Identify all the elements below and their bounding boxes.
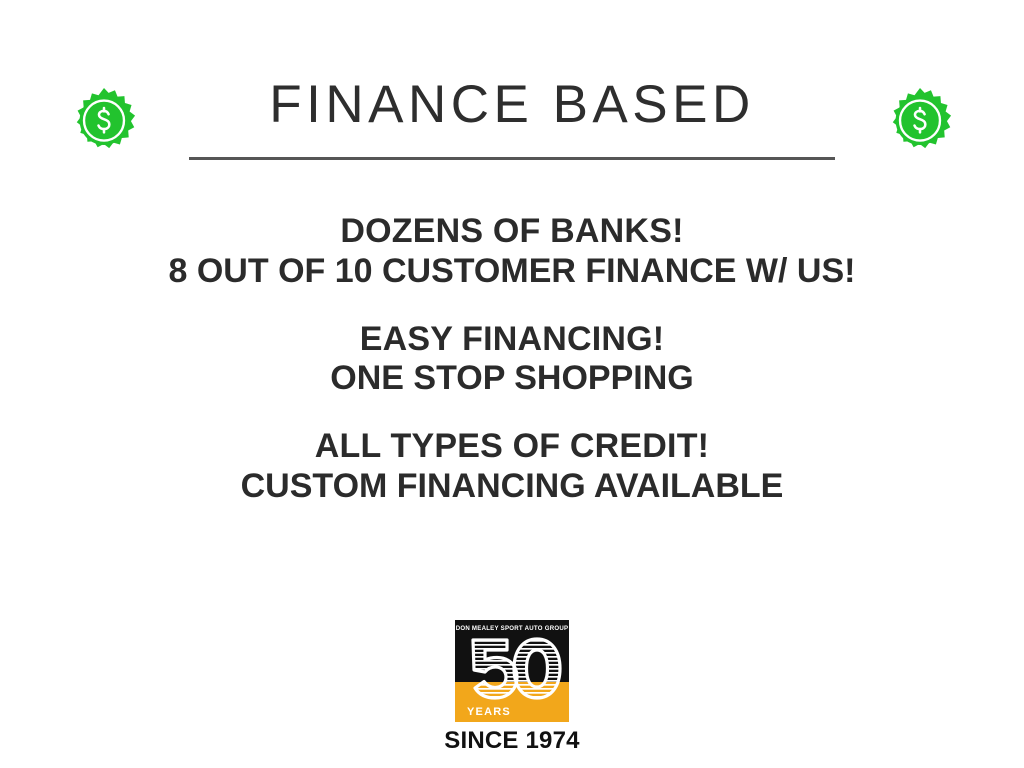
fifty-years-numeral bbox=[455, 632, 569, 710]
dollar-gear-icon bbox=[67, 88, 141, 162]
page-title: FINANCE BASED bbox=[269, 78, 755, 132]
slide-body: DOZENS OF BANKS! 8 OUT OF 10 CUSTOMER FI… bbox=[0, 212, 1024, 507]
copy-headline: EASY FINANCING! bbox=[0, 320, 1024, 360]
copy-block: DOZENS OF BANKS! 8 OUT OF 10 CUSTOMER FI… bbox=[0, 212, 1024, 292]
slide-header: FINANCE BASED bbox=[0, 78, 1024, 178]
copy-headline: DOZENS OF BANKS! bbox=[0, 212, 1024, 252]
slide-canvas: FINANCE BASED DOZENS OF BANKS! 8 OUT OF … bbox=[0, 0, 1024, 768]
dollar-gear-icon bbox=[883, 88, 957, 162]
years-label: YEARS bbox=[467, 706, 511, 718]
copy-block: EASY FINANCING! ONE STOP SHOPPING bbox=[0, 320, 1024, 400]
copy-subline: CUSTOM FINANCING AVAILABLE bbox=[0, 467, 1024, 507]
title-divider bbox=[189, 157, 835, 160]
copy-headline: ALL TYPES OF CREDIT! bbox=[0, 427, 1024, 467]
copy-subline: ONE STOP SHOPPING bbox=[0, 359, 1024, 399]
anniversary-badge: DON MEALEY SPORT AUTO GROUP bbox=[455, 620, 569, 722]
since-year-text: SINCE 1974 bbox=[444, 727, 579, 755]
brand-name-text: DON MEALEY SPORT AUTO GROUP bbox=[455, 625, 569, 632]
dealer-logo: DON MEALEY SPORT AUTO GROUP bbox=[0, 620, 1024, 755]
copy-block: ALL TYPES OF CREDIT! CUSTOM FINANCING AV… bbox=[0, 427, 1024, 507]
title-group: FINANCE BASED bbox=[189, 78, 835, 160]
copy-subline: 8 OUT OF 10 CUSTOMER FINANCE W/ US! bbox=[0, 252, 1024, 292]
